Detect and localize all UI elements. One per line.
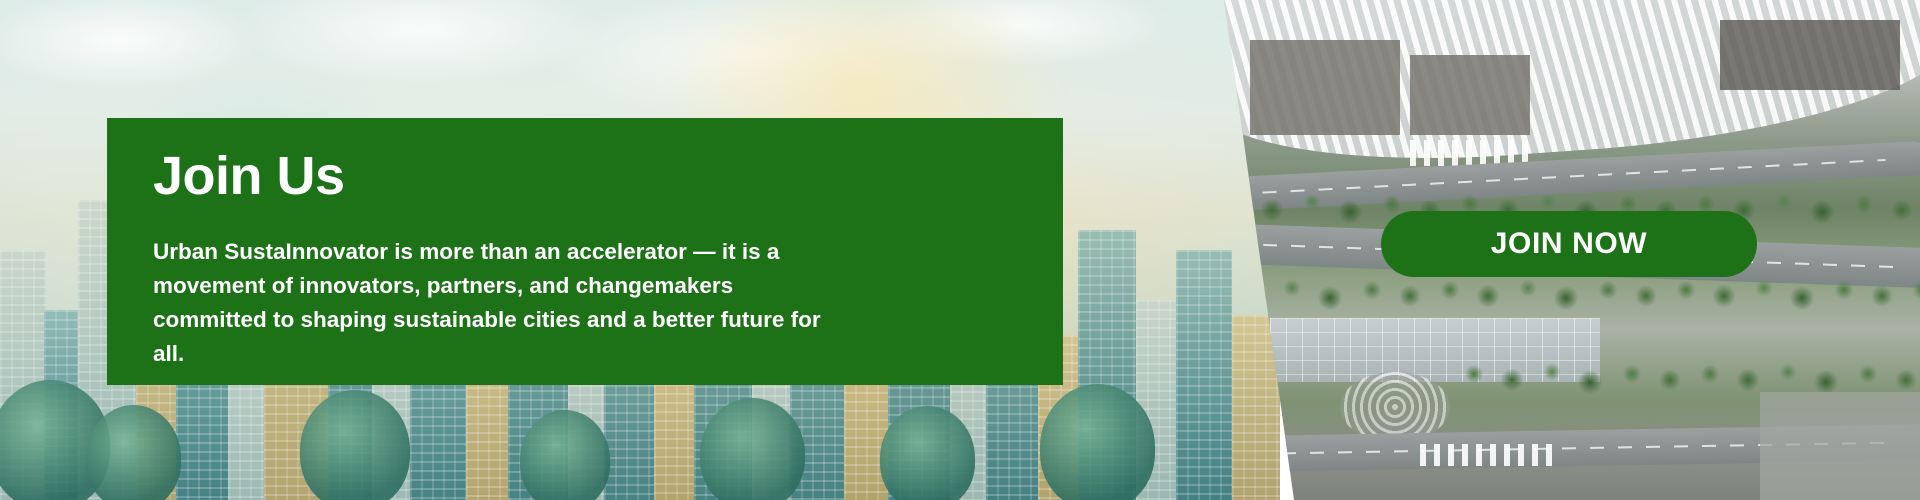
join-us-text-panel: Join Us Urban SustaInnovator is more tha…: [107, 118, 1063, 385]
panel-description: Urban SustaInnovator is more than an acc…: [153, 235, 853, 372]
page-title: Join Us: [153, 148, 1017, 205]
join-us-banner: Join Us Urban SustaInnovator is more tha…: [0, 0, 1920, 500]
join-now-button[interactable]: JOIN NOW: [1381, 211, 1757, 277]
